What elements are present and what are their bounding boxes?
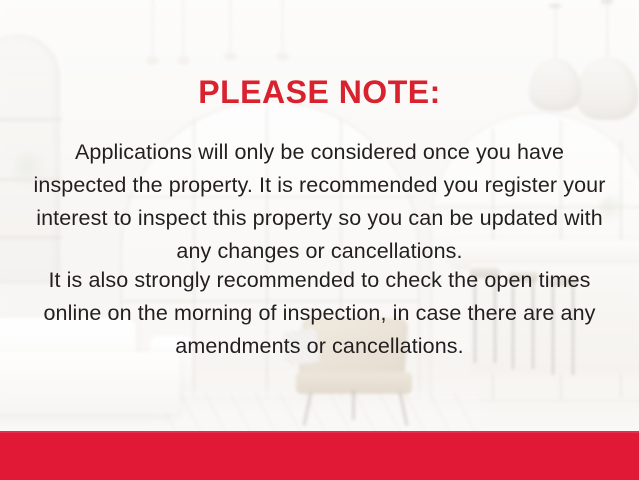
notice-paragraph-1: Applications will only be considered onc… (26, 136, 613, 268)
banner-top-highlight (0, 431, 639, 433)
notice-paragraph-2: It is also strongly recommended to check… (26, 264, 613, 363)
page-title: PLEASE NOTE: (0, 76, 639, 108)
notice-slide: PLEASE NOTE: Applications will only be c… (0, 0, 639, 480)
footer-banner: BURNHA (0, 431, 639, 480)
